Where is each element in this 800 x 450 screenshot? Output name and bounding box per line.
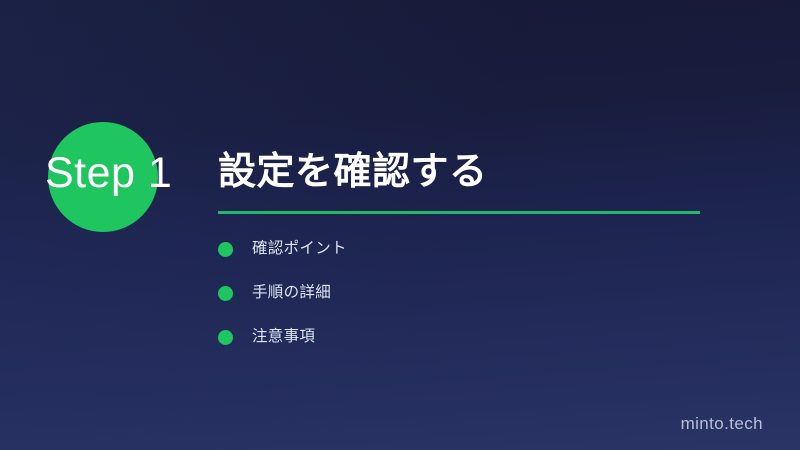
list-item-label: 注意事項 bbox=[252, 326, 315, 348]
bullet-dot-icon bbox=[218, 242, 233, 257]
title-underline-rule bbox=[218, 211, 700, 214]
bullet-list: 確認ポイント 手順の詳細 注意事項 bbox=[218, 238, 347, 348]
step-badge-label: Step 1 bbox=[45, 150, 172, 196]
list-item-label: 手順の詳細 bbox=[252, 282, 331, 304]
bullet-dot-icon bbox=[218, 286, 233, 301]
list-item-label: 確認ポイント bbox=[252, 238, 347, 260]
list-item: 手順の詳細 bbox=[218, 282, 347, 304]
brand-watermark: minto.tech bbox=[681, 414, 763, 434]
list-item: 確認ポイント bbox=[218, 238, 347, 260]
bullet-dot-icon bbox=[218, 330, 233, 345]
list-item: 注意事項 bbox=[218, 326, 347, 348]
page-title: 設定を確認する bbox=[218, 148, 488, 196]
slide-canvas: Step 1 設定を確認する 確認ポイント 手順の詳細 注意事項 minto.t… bbox=[0, 0, 800, 450]
